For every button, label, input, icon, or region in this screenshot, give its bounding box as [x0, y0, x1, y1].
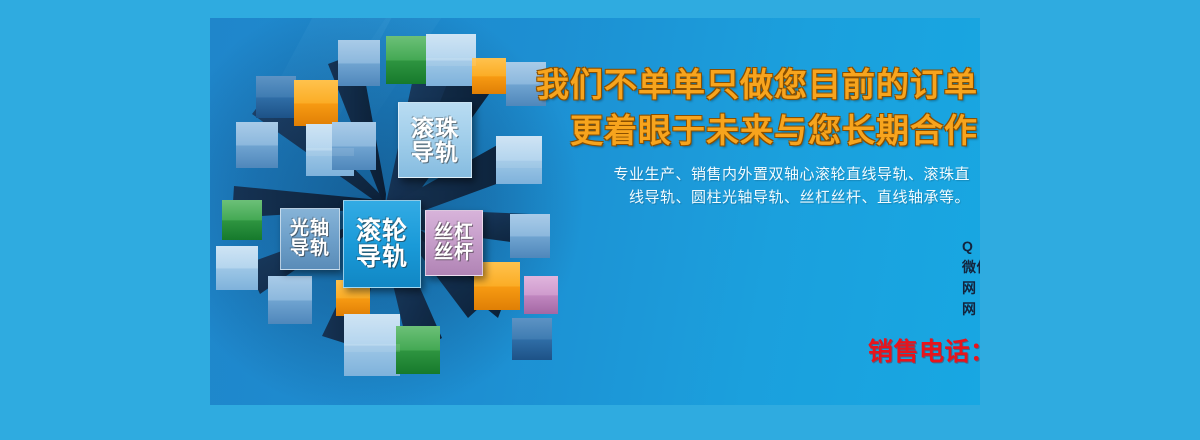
sales-phone-label: 销售电话：: [868, 332, 980, 368]
banner-content: 我们不单单只做您目前的订单 更着眼于未来与您长期合作 专业生产、销售内外置双轴心…: [550, 18, 980, 405]
contact-row-website-1: 网 址 ： Www.Zxdgzc.Com: [962, 278, 980, 299]
product-label-optical-shaft-line1: 光轴: [290, 219, 330, 239]
sales-phone[interactable]: 销售电话： 18357860469: [868, 332, 980, 368]
product-label-ball-guide-line1: 滚珠: [411, 116, 459, 140]
contact-label-website-2: 网 址: [962, 299, 980, 319]
contact-label-wechat: 微信号: [962, 257, 980, 277]
product-label-optical-shaft[interactable]: 光轴 导轨: [280, 208, 340, 270]
contact-label-qq: Q Q: [962, 236, 980, 256]
intro-paragraph: 专业生产、销售内外置双轴心滚轮直线导轨、滚珠直线导轨、圆柱光轴导轨、丝杠丝杆、直…: [600, 164, 970, 210]
product-label-lead-screw-line2: 丝杆: [434, 243, 474, 263]
product-label-optical-shaft-line2: 导轨: [290, 239, 330, 259]
product-label-ball-guide-line2: 导轨: [411, 140, 459, 164]
product-label-lead-screw-line1: 丝杠: [434, 223, 474, 243]
promo-banner: 滚珠 导轨 光轴 导轨 滚轮 导轨 丝杠 丝杆 我们不单单只做您目前的订单 更着…: [210, 18, 980, 405]
product-label-roller-guide[interactable]: 滚轮 导轨: [343, 200, 421, 288]
headline-line-1: 我们不单单只做您目前的订单: [536, 58, 978, 106]
contact-row-wechat: 微信号 ： zxdgzc （直线导轨轴承）: [962, 257, 980, 278]
product-label-ball-guide[interactable]: 滚珠 导轨: [398, 102, 472, 178]
contact-label-website-1: 网 址: [962, 278, 980, 298]
headline-line-2: 更着眼于未来与您长期合作: [570, 104, 978, 152]
contact-row-website-2: 网 址 ： Www.Cnzxdg.Com: [962, 299, 980, 320]
contact-list: Q Q ： 80286553 微信号 ： zxdgzc （直线导轨轴承） 网 址…: [962, 236, 980, 320]
page-root: 滚珠 导轨 光轴 导轨 滚轮 导轨 丝杠 丝杆 我们不单单只做您目前的订单 更着…: [0, 0, 1200, 440]
product-label-lead-screw[interactable]: 丝杠 丝杆: [425, 210, 483, 276]
product-label-roller-guide-line1: 滚轮: [356, 218, 408, 245]
product-label-roller-guide-line2: 导轨: [356, 244, 408, 271]
contact-row-qq: Q Q ： 80286553: [962, 236, 980, 257]
